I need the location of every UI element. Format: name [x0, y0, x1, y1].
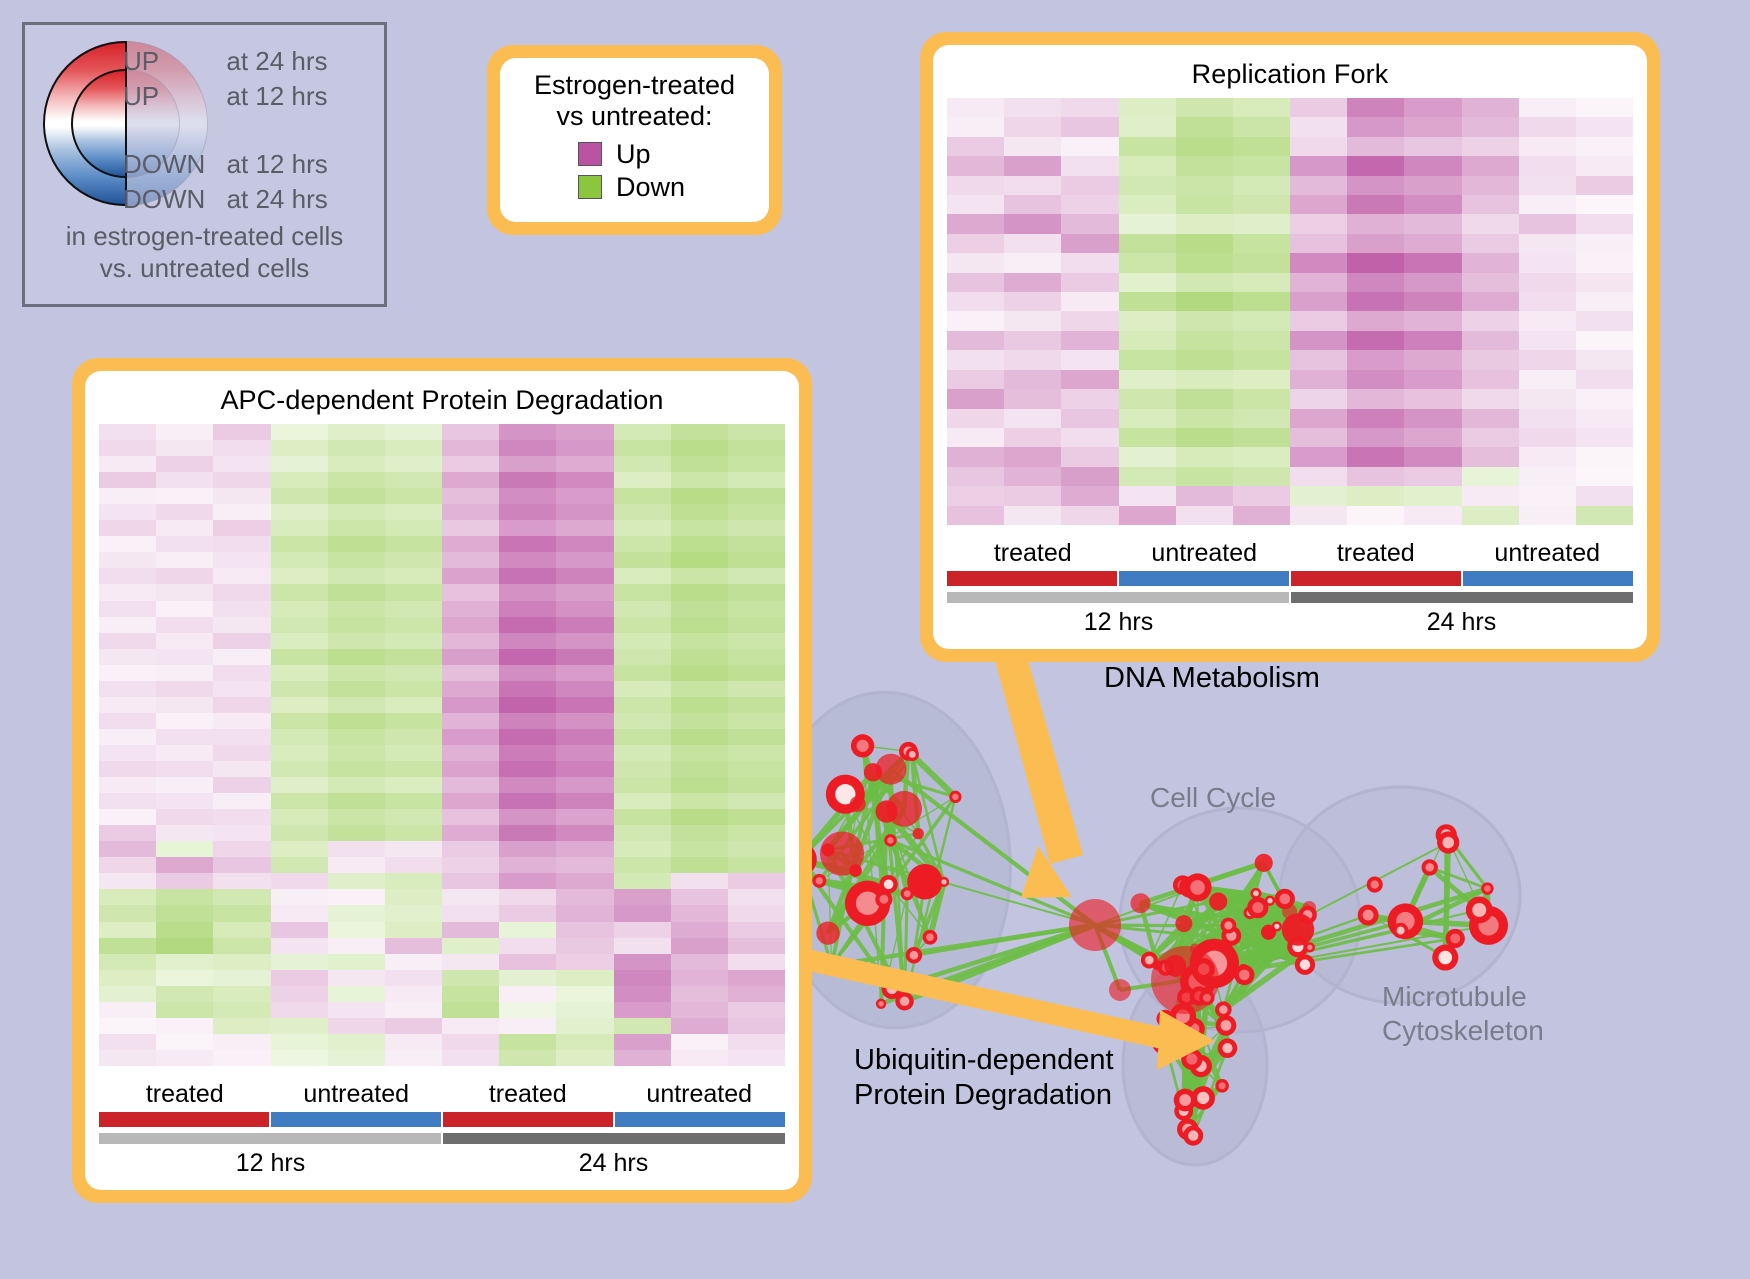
- heatmap-cell: [99, 922, 156, 938]
- network-node-core: [910, 951, 919, 960]
- heatmap-cell: [99, 568, 156, 584]
- pathway-network-graph: [800, 620, 1750, 1279]
- up-down-title-line-2: vs untreated:: [510, 101, 759, 132]
- heatmap-cell: [1233, 428, 1290, 447]
- time-bar-24hrs: [443, 1133, 785, 1144]
- cluster-label-microtubule-cytoskeleton: Microtubule Cytoskeleton: [1382, 980, 1544, 1047]
- heatmap-cell: [271, 649, 328, 665]
- heatmap-cell: [499, 809, 556, 825]
- legend-time-label: at 24 hrs: [226, 46, 327, 77]
- heatmap-cell: [728, 777, 785, 793]
- network-node-core: [1307, 945, 1312, 950]
- heatmap-cell: [671, 665, 728, 681]
- heatmap-cell: [99, 649, 156, 665]
- heatmap-cell: [385, 1002, 442, 1018]
- heatmap-cell: [614, 552, 671, 568]
- heatmap-cell: [671, 697, 728, 713]
- network-node-core: [1484, 885, 1491, 892]
- heatmap-cell: [1061, 467, 1118, 486]
- heatmap-cell: [1347, 176, 1404, 195]
- heatmap-cell: [328, 601, 385, 617]
- heatmap-cell: [499, 793, 556, 809]
- heatmap-cell: [1347, 156, 1404, 175]
- network-node-core: [1371, 880, 1379, 888]
- heatmap-cell: [499, 584, 556, 600]
- treated-bar: [1291, 571, 1461, 586]
- heatmap-cell: [947, 331, 1004, 350]
- network-node-core: [952, 794, 958, 800]
- heatmap-cell: [614, 697, 671, 713]
- heatmap-cell: [442, 857, 499, 873]
- heatmap-cell: [271, 488, 328, 504]
- heatmap-cell: [1404, 98, 1461, 117]
- heatmap-cell: [99, 440, 156, 456]
- heatmap-cell: [385, 536, 442, 552]
- heatmap-cell: [728, 745, 785, 761]
- heatmap-cell: [328, 793, 385, 809]
- heatmap-cell: [99, 1034, 156, 1050]
- heatmap-cell: [271, 424, 328, 440]
- heatmap-cell: [671, 729, 728, 745]
- heatmap-cell: [728, 841, 785, 857]
- heatmap-cell: [156, 905, 213, 921]
- heatmap-cell: [1290, 311, 1347, 330]
- heatmap-cell: [671, 745, 728, 761]
- heatmap-cell: [156, 504, 213, 520]
- heatmap-cell: [213, 568, 270, 584]
- network-node-core: [1450, 933, 1460, 943]
- heatmap-cell: [1004, 292, 1061, 311]
- legend-direction-label: UP: [123, 46, 159, 77]
- heatmap-cell: [271, 617, 328, 633]
- heatmap-cell: [1061, 447, 1118, 466]
- heatmap-cell: [1347, 467, 1404, 486]
- heatmap-cell: [1347, 311, 1404, 330]
- time-bar-12hrs: [99, 1133, 441, 1144]
- heatmap-cell: [1347, 409, 1404, 428]
- heatmap-cell: [671, 1018, 728, 1034]
- heatmap-cell: [1576, 273, 1633, 292]
- replication-fork-inner: Replication Fork treated untreated treat…: [933, 45, 1647, 649]
- heatmap-cell: [499, 922, 556, 938]
- heatmap-cell: [1176, 176, 1233, 195]
- microtubule-line-1: Microtubule: [1382, 980, 1544, 1014]
- heatmap-cell: [556, 424, 613, 440]
- heatmap-cell: [156, 873, 213, 889]
- heatmap-cell: [442, 488, 499, 504]
- heatmap-cell: [328, 424, 385, 440]
- heatmap-cell: [1576, 370, 1633, 389]
- heatmap-cell: [671, 986, 728, 1002]
- heatmap-cell: [1519, 486, 1576, 505]
- heatmap-cell: [728, 536, 785, 552]
- network-node-core: [1252, 902, 1263, 913]
- network-node: [1175, 915, 1192, 932]
- heatmap-cell: [1404, 409, 1461, 428]
- heatmap-cell: [499, 440, 556, 456]
- treatment-label: treated: [947, 539, 1119, 568]
- heatmap-cell: [385, 681, 442, 697]
- heatmap-cell: [614, 520, 671, 536]
- heatmap-cell: [499, 841, 556, 857]
- heatmap-cell: [328, 873, 385, 889]
- heatmap-cell: [213, 1002, 270, 1018]
- network-node-core: [1188, 1130, 1198, 1140]
- heatmap-cell: [671, 472, 728, 488]
- network-node-core: [1190, 880, 1205, 895]
- heatmap-cell: [385, 665, 442, 681]
- heatmap-cell: [156, 568, 213, 584]
- heatmap-cell: [1404, 486, 1461, 505]
- heatmap-cell: [1404, 253, 1461, 272]
- network-node-core: [1186, 1054, 1197, 1065]
- apc-degradation-inner: APC-dependent Protein Degradation treate…: [85, 371, 799, 1190]
- heatmap-cell: [1119, 137, 1176, 156]
- heatmap-cell: [1462, 370, 1519, 389]
- heatmap-cell: [1519, 117, 1576, 136]
- heatmap-cell: [99, 954, 156, 970]
- heatmap-cell: [99, 584, 156, 600]
- heatmap-cell: [1233, 331, 1290, 350]
- microtubule-line-2: Cytoskeleton: [1382, 1014, 1544, 1048]
- heatmap-cell: [1061, 137, 1118, 156]
- heatmap-cell: [556, 745, 613, 761]
- heatmap-cell: [271, 1050, 328, 1066]
- heatmap-cell: [1119, 447, 1176, 466]
- heatmap-cell: [728, 809, 785, 825]
- up-down-legend-panel: Estrogen-treated vs untreated: Up Down: [487, 45, 782, 235]
- heatmap-cell: [728, 697, 785, 713]
- heatmap-cell: [1233, 292, 1290, 311]
- heatmap-cell: [671, 841, 728, 857]
- heatmap-cell: [556, 488, 613, 504]
- heatmap-cell: [1462, 195, 1519, 214]
- heatmap-cell: [1404, 292, 1461, 311]
- heatmap-cell: [1119, 273, 1176, 292]
- heatmap-cell: [1233, 486, 1290, 505]
- heatmap-cell: [213, 809, 270, 825]
- heatmap-cell: [1004, 273, 1061, 292]
- heatmap-cell: [156, 488, 213, 504]
- heatmap-cell: [556, 793, 613, 809]
- heatmap-cell: [328, 504, 385, 520]
- heatmap-cell: [1290, 156, 1347, 175]
- heatmap-cell: [1004, 370, 1061, 389]
- heatmap-cell: [271, 793, 328, 809]
- heatmap-cell: [614, 633, 671, 649]
- heatmap-cell: [1519, 137, 1576, 156]
- network-node-core: [828, 961, 836, 969]
- heatmap-cell: [614, 809, 671, 825]
- heatmap-cell: [385, 713, 442, 729]
- heatmap-cell: [1404, 273, 1461, 292]
- heatmap-cell: [1576, 234, 1633, 253]
- heatmap-cell: [728, 825, 785, 841]
- heatmap-cell: [442, 601, 499, 617]
- heatmap-cell: [671, 617, 728, 633]
- heatmap-cell: [671, 488, 728, 504]
- heatmap-cell: [156, 472, 213, 488]
- heatmap-cell: [442, 905, 499, 921]
- treatment-label: untreated: [271, 1080, 443, 1109]
- heatmap-cell: [99, 729, 156, 745]
- heatmap-cell: [1176, 486, 1233, 505]
- heatmap-cell: [271, 601, 328, 617]
- heatmap-cell: [556, 504, 613, 520]
- heatmap-cell: [614, 504, 671, 520]
- heatmap-cell: [1061, 331, 1118, 350]
- heatmap-cell: [99, 938, 156, 954]
- heatmap-cell: [385, 697, 442, 713]
- cluster-label-ubiquitin-degradation: Ubiquitin-dependent Protein Degradation: [854, 1043, 1114, 1113]
- heatmap-cell: [556, 665, 613, 681]
- time-labels: 12 hrs 24 hrs: [947, 608, 1633, 637]
- heatmap-cell: [1519, 389, 1576, 408]
- heatmap-cell: [947, 137, 1004, 156]
- legend-time-label: at 24 hrs: [227, 184, 328, 215]
- apc-degradation-axis: treated untreated treated untreated 12 h: [99, 1080, 785, 1178]
- network-node: [1255, 854, 1273, 872]
- heatmap-cell: [556, 1050, 613, 1066]
- heatmap-cell: [156, 424, 213, 440]
- heatmap-cell: [442, 665, 499, 681]
- heatmap-cell: [1233, 506, 1290, 525]
- heatmap-cell: [947, 447, 1004, 466]
- heatmap-cell: [1576, 292, 1633, 311]
- heatmap-cell: [614, 617, 671, 633]
- heatmap-cell: [499, 424, 556, 440]
- apc-degradation-title: APC-dependent Protein Degradation: [99, 385, 785, 416]
- heatmap-cell: [1119, 389, 1176, 408]
- legend-item-up: Up: [578, 139, 759, 170]
- heatmap-cell: [1290, 370, 1347, 389]
- heatmap-cell: [1176, 98, 1233, 117]
- heatmap-cell: [1176, 292, 1233, 311]
- heatmap-cell: [1404, 506, 1461, 525]
- treatment-label: untreated: [1462, 539, 1634, 568]
- treatment-labels: treated untreated treated untreated: [947, 539, 1633, 568]
- heatmap-cell: [99, 665, 156, 681]
- heatmap-cell: [671, 793, 728, 809]
- heatmap-cell: [1576, 467, 1633, 486]
- heatmap-cell: [1519, 506, 1576, 525]
- heatmap-cell: [99, 841, 156, 857]
- heatmap-cell: [728, 520, 785, 536]
- heatmap-cell: [556, 697, 613, 713]
- heatmap-cell: [499, 697, 556, 713]
- heatmap-cell: [671, 954, 728, 970]
- heatmap-cell: [671, 1050, 728, 1066]
- heatmap-cell: [385, 504, 442, 520]
- heatmap-cell: [1347, 234, 1404, 253]
- heatmap-cell: [1290, 292, 1347, 311]
- heatmap-cell: [1462, 311, 1519, 330]
- heatmap-cell: [1119, 467, 1176, 486]
- heatmap-cell: [1233, 176, 1290, 195]
- heatmap-cell: [499, 986, 556, 1002]
- heatmap-cell: [213, 1050, 270, 1066]
- time-bar-12hrs: [947, 592, 1289, 603]
- heatmap-cell: [1347, 292, 1404, 311]
- heatmap-cell: [614, 1050, 671, 1066]
- heatmap-cell: [1004, 389, 1061, 408]
- legend-time-label: at 12 hrs: [227, 149, 328, 180]
- network-node-core: [1438, 951, 1452, 965]
- heatmap-cell: [271, 440, 328, 456]
- time-bar-24hrs: [1291, 592, 1633, 603]
- up-color-swatch: [578, 142, 602, 166]
- heatmap-cell: [614, 825, 671, 841]
- heatmap-cell: [328, 889, 385, 905]
- heatmap-cell: [385, 986, 442, 1002]
- heatmap-cell: [213, 761, 270, 777]
- heatmap-cell: [1290, 117, 1347, 136]
- heatmap-cell: [1519, 273, 1576, 292]
- heatmap-cell: [556, 922, 613, 938]
- heatmap-cell: [156, 889, 213, 905]
- heatmap-cell: [99, 424, 156, 440]
- heatmap-cell: [1519, 428, 1576, 447]
- heatmap-cell: [328, 809, 385, 825]
- heatmap-cell: [99, 889, 156, 905]
- time-label: 24 hrs: [442, 1149, 785, 1178]
- heatmap-cell: [1404, 195, 1461, 214]
- heatmap-cell: [1004, 137, 1061, 156]
- heatmap-cell: [328, 986, 385, 1002]
- heatmap-cell: [556, 536, 613, 552]
- network-node-core: [1397, 927, 1405, 935]
- heatmap-cell: [1519, 292, 1576, 311]
- heatmap-cell: [1176, 506, 1233, 525]
- treated-bar: [99, 1112, 269, 1127]
- heatmap-cell: [1462, 506, 1519, 525]
- heatmap-cell: [614, 922, 671, 938]
- heatmap-cell: [328, 745, 385, 761]
- untreated-bar: [615, 1112, 785, 1127]
- heatmap-cell: [1004, 486, 1061, 505]
- heatmap-cell: [213, 777, 270, 793]
- heatmap-cell: [1576, 98, 1633, 117]
- heatmap-cell: [728, 1018, 785, 1034]
- heatmap-cell: [1176, 156, 1233, 175]
- heatmap-cell: [99, 633, 156, 649]
- heatmap-cell: [728, 456, 785, 472]
- heatmap-cell: [99, 713, 156, 729]
- heatmap-cell: [1290, 389, 1347, 408]
- heatmap-cell: [213, 793, 270, 809]
- heatmap-cell: [556, 552, 613, 568]
- heatmap-cell: [728, 905, 785, 921]
- heatmap-cell: [614, 713, 671, 729]
- heatmap-cell: [385, 922, 442, 938]
- heatmap-cell: [99, 1050, 156, 1066]
- heatmap-cell: [156, 456, 213, 472]
- heatmap-cell: [99, 504, 156, 520]
- heatmap-cell: [728, 568, 785, 584]
- heatmap-cell: [99, 970, 156, 986]
- heatmap-cell: [99, 986, 156, 1002]
- heatmap-cell: [556, 440, 613, 456]
- network-node-core: [1253, 891, 1259, 897]
- heatmap-cell: [1233, 370, 1290, 389]
- heatmap-cell: [1176, 467, 1233, 486]
- heatmap-cell: [1119, 214, 1176, 233]
- heatmap-cell: [499, 1018, 556, 1034]
- network-node-core: [1221, 1020, 1232, 1031]
- heatmap-cell: [499, 520, 556, 536]
- heatmap-cell: [1233, 273, 1290, 292]
- heatmap-cell: [499, 857, 556, 873]
- heatmap-cell: [671, 520, 728, 536]
- heatmap-cell: [328, 456, 385, 472]
- heatmap-cell: [385, 1034, 442, 1050]
- heatmap-cell: [271, 825, 328, 841]
- heatmap-cell: [728, 633, 785, 649]
- heatmap-cell: [271, 1018, 328, 1034]
- heatmap-cell: [442, 777, 499, 793]
- heatmap-cell: [728, 889, 785, 905]
- heatmap-cell: [728, 1034, 785, 1050]
- heatmap-cell: [271, 905, 328, 921]
- heatmap-cell: [499, 729, 556, 745]
- heatmap-cell: [728, 938, 785, 954]
- network-node: [816, 921, 839, 944]
- treated-bar: [443, 1112, 613, 1127]
- heatmap-cell: [271, 568, 328, 584]
- heatmap-cell: [271, 889, 328, 905]
- heatmap-cell: [1290, 214, 1347, 233]
- heatmap-cell: [1176, 214, 1233, 233]
- heatmap-cell: [271, 761, 328, 777]
- heatmap-cell: [499, 649, 556, 665]
- heatmap-cell: [156, 970, 213, 986]
- treatment-color-bar: [99, 1112, 785, 1127]
- heatmap-cell: [499, 954, 556, 970]
- heatmap-cell: [213, 857, 270, 873]
- heatmap-cell: [271, 633, 328, 649]
- heatmap-cell: [213, 649, 270, 665]
- heatmap-cell: [442, 552, 499, 568]
- heatmap-cell: [671, 761, 728, 777]
- heatmap-cell: [614, 857, 671, 873]
- heatmap-cell: [1004, 506, 1061, 525]
- heatmap-cell: [728, 1002, 785, 1018]
- figure-canvas: UP at 24 hrs UP at 12 hrs DOWN at 12 hrs…: [0, 0, 1750, 1279]
- heatmap-cell: [1119, 98, 1176, 117]
- heatmap-cell: [1519, 370, 1576, 389]
- heatmap-cell: [156, 681, 213, 697]
- heatmap-cell: [442, 456, 499, 472]
- heatmap-cell: [947, 350, 1004, 369]
- heatmap-cell: [442, 841, 499, 857]
- heatmap-cell: [385, 729, 442, 745]
- heatmap-cell: [213, 472, 270, 488]
- heatmap-cell: [271, 1002, 328, 1018]
- heatmap-cell: [556, 1002, 613, 1018]
- heatmap-cell: [156, 922, 213, 938]
- heatmap-cell: [271, 1034, 328, 1050]
- heatmap-cell: [1233, 195, 1290, 214]
- heatmap-cell: [156, 520, 213, 536]
- heatmap-cell: [385, 793, 442, 809]
- heatmap-cell: [671, 633, 728, 649]
- heatmap-cell: [556, 825, 613, 841]
- legend-footer-line-2: vs. untreated cells: [25, 253, 384, 285]
- time-labels: 12 hrs 24 hrs: [99, 1149, 785, 1178]
- heatmap-cell: [1519, 176, 1576, 195]
- heatmap-cell: [1061, 156, 1118, 175]
- heatmap-cell: [1462, 447, 1519, 466]
